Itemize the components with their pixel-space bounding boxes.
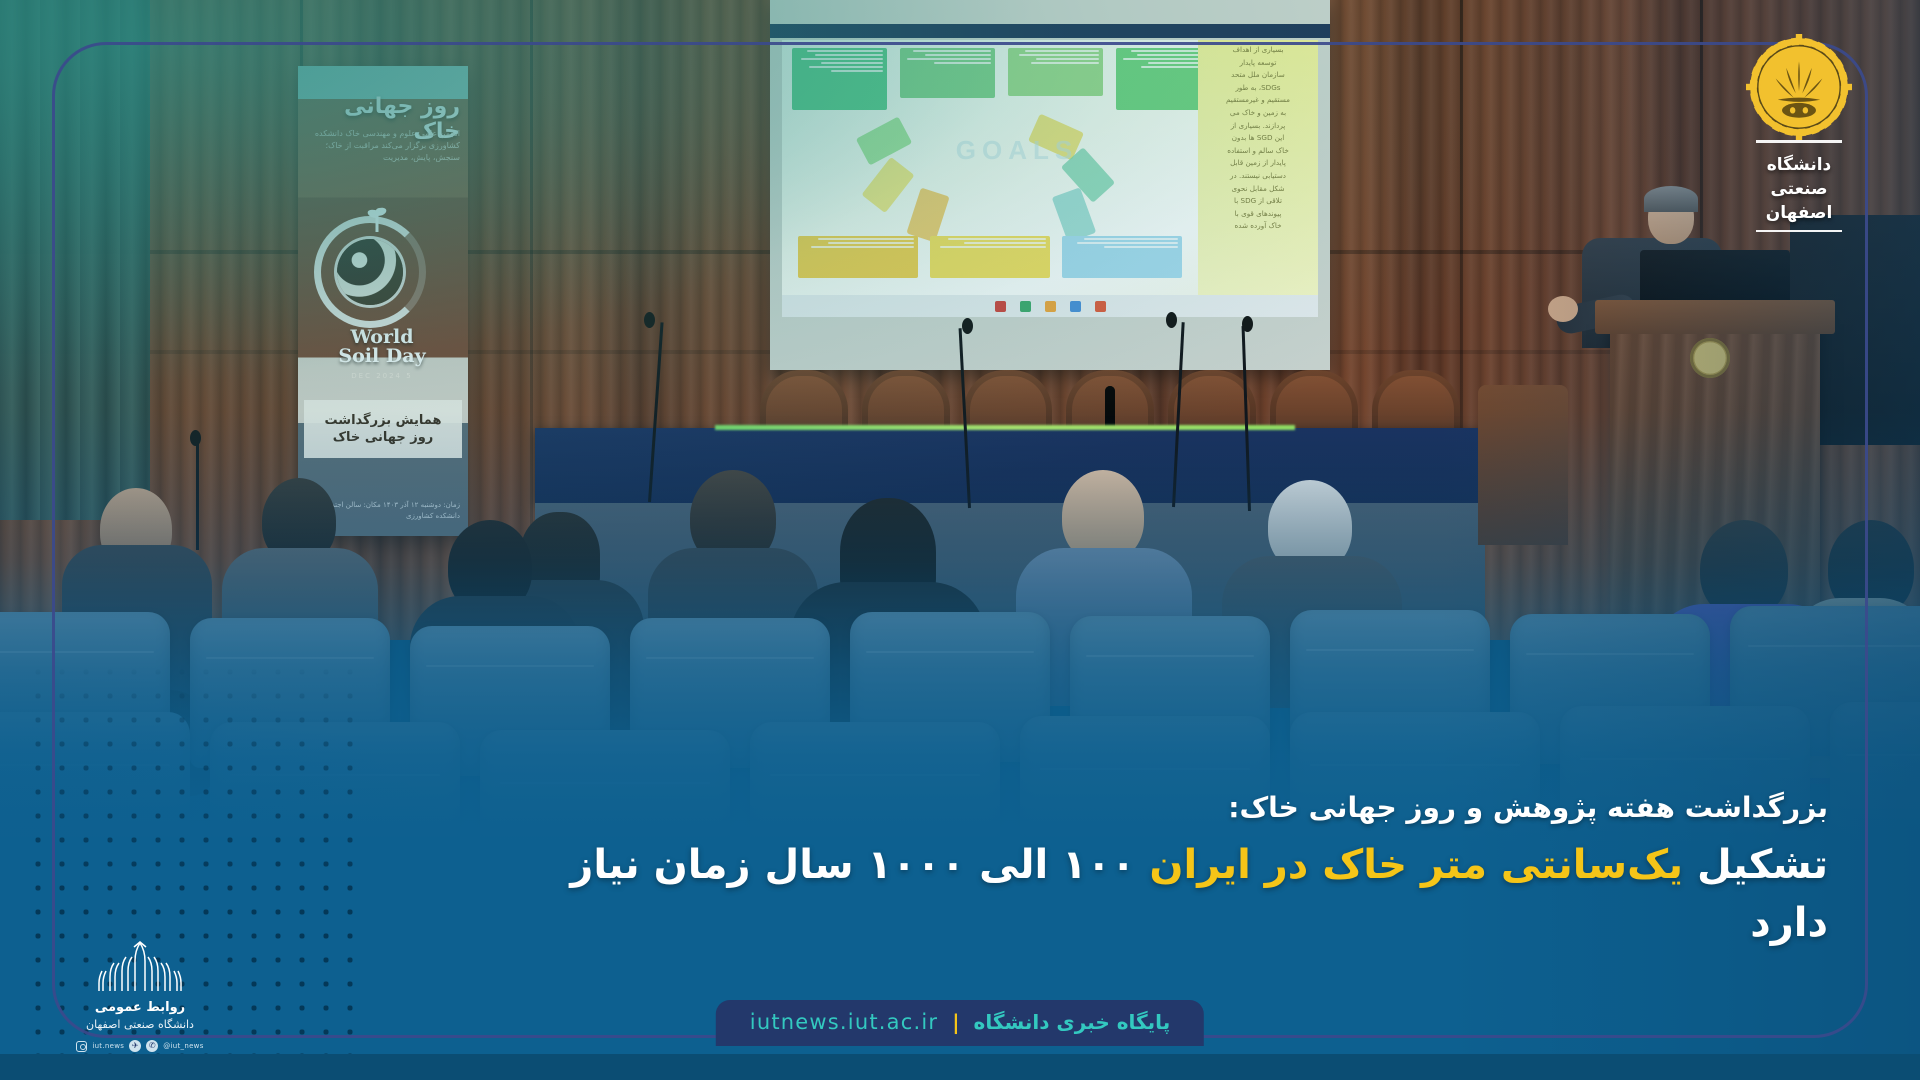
headline-kicker: بزرگداشت هفته پژوهش و روز جهانی خاک: xyxy=(528,786,1828,830)
iut-brand-logo: دانشگاه صنعتی اصفهان xyxy=(1724,34,1874,232)
presenter-hand xyxy=(1548,296,1578,322)
slide-taskbar xyxy=(782,295,1318,317)
whatsapp-handle: @iut_news xyxy=(163,1042,203,1050)
standee-subtitle: انجمن علمی علوم و مهندسی خاک دانشکده کشا… xyxy=(310,128,460,164)
globe-icon xyxy=(337,239,403,305)
pr-line-2: دانشگاه صنعتی اصفهان xyxy=(62,1017,218,1033)
slide-watermark: GOALS xyxy=(902,135,1132,166)
news-site-label: پایگاه خبری دانشگاه xyxy=(974,1010,1171,1034)
side-chair xyxy=(1478,385,1568,545)
world-soil-day-wordmark: World Soil Day xyxy=(312,328,452,366)
world-soil-day-date: 5 DEC 2024 xyxy=(312,372,452,380)
logo-rule-top xyxy=(1756,140,1842,143)
headline-block: بزرگداشت هفته پژوهش و روز جهانی خاک: تشک… xyxy=(528,786,1828,952)
public-relations-logo: روابط عمومی دانشگاه صنعتی اصفهان iut.new… xyxy=(62,941,218,1052)
headline-main: تشکیل یک‌سانتی متر خاک در ایران ۱۰۰ الی … xyxy=(528,836,1828,952)
telegram-icon[interactable]: ✈ xyxy=(129,1040,141,1052)
sprout-icon xyxy=(360,206,394,232)
iut-seal-icon xyxy=(1690,338,1730,378)
pill-separator: | xyxy=(952,1010,959,1034)
slide-sidebar-text: بسیاری از اهداف توسعه پایدار سازمان ملل … xyxy=(1198,40,1318,295)
iut-brand-name: دانشگاه صنعتی اصفهان xyxy=(1724,153,1874,225)
standee-caption: همایش بزرگداشت روز جهانی خاک xyxy=(304,400,462,458)
headline-main-highlight: یک‌سانتی متر خاک در ایران xyxy=(1149,842,1683,888)
gear-emblem-icon xyxy=(1746,34,1852,140)
banner-canvas: GOALS بسیاری از اهداف توسعه پایدار سازما… xyxy=(0,0,1920,1080)
whatsapp-icon[interactable]: ✆ xyxy=(146,1040,158,1052)
instagram-icon[interactable] xyxy=(76,1041,87,1052)
news-site-pill[interactable]: پایگاه خبری دانشگاه | iutnews.iut.ac.ir xyxy=(716,1000,1204,1046)
world-soil-day-circle-icon xyxy=(314,216,426,328)
pr-line-1: روابط عمومی xyxy=(62,999,218,1017)
logo-rule-bottom xyxy=(1756,230,1842,233)
news-site-url[interactable]: iutnews.iut.ac.ir xyxy=(750,1010,938,1034)
screen-top-bar xyxy=(770,24,1330,38)
presenter-hair xyxy=(1644,186,1698,212)
projector-slide: GOALS بسیاری از اهداف توسعه پایدار سازما… xyxy=(782,40,1318,295)
headline-main-prefix: تشکیل xyxy=(1683,842,1828,888)
instagram-handle: iut.news xyxy=(92,1042,124,1050)
stage-table xyxy=(535,428,1485,503)
esfahan-minarets-icon xyxy=(88,941,192,993)
podium-top xyxy=(1595,300,1835,334)
pr-social-row: iut.news ✈ ✆ @iut_news xyxy=(62,1040,218,1052)
bottom-strip xyxy=(0,1054,1920,1080)
world-soil-day-standee: روز جهانی خاک انجمن علمی علوم و مهندسی خ… xyxy=(298,66,468,536)
stage-curtain xyxy=(0,0,150,520)
